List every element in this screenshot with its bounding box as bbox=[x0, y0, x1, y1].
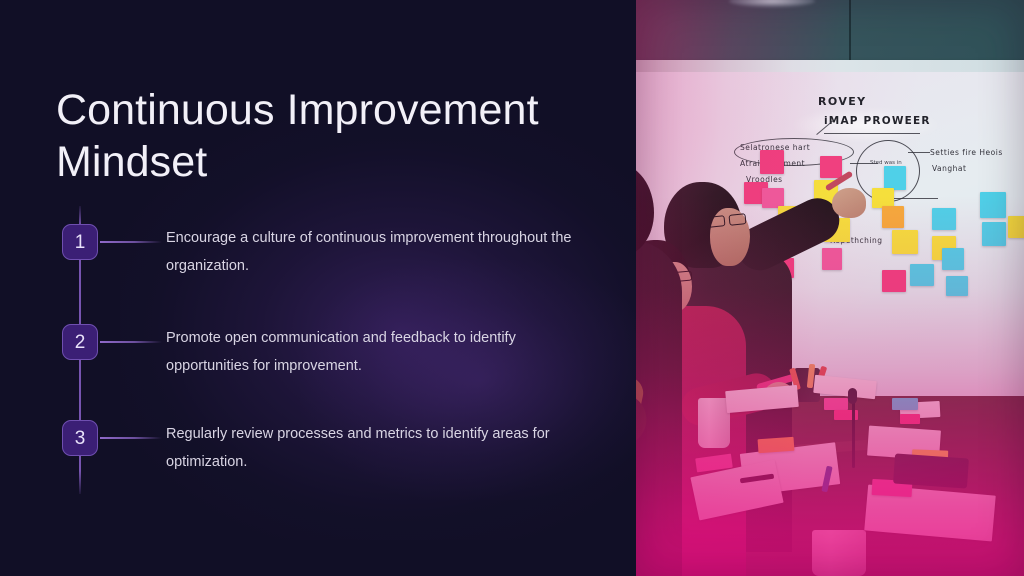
sticky-note bbox=[946, 276, 968, 296]
whiteboard-note: Vanghat bbox=[932, 164, 966, 173]
list-item-text: Encourage a culture of continuous improv… bbox=[166, 224, 596, 281]
sticky-note bbox=[910, 264, 934, 286]
whiteboard-subheading: iMAP PROWEER bbox=[824, 115, 931, 127]
microphone-stand bbox=[852, 396, 855, 468]
whiteboard-arrow-3 bbox=[908, 152, 930, 153]
sticky-note bbox=[932, 208, 956, 230]
sticky-note bbox=[882, 270, 906, 292]
sticky-note bbox=[872, 188, 894, 208]
sticky-note bbox=[762, 188, 784, 208]
sticky-note bbox=[820, 156, 842, 178]
sticky-note bbox=[942, 248, 964, 270]
person-hand bbox=[832, 188, 866, 218]
sticky-note bbox=[1008, 216, 1024, 238]
step-number-badge: 3 bbox=[62, 420, 98, 456]
left-content-panel: Continuous Improvement Mindset 1 Encoura… bbox=[0, 0, 636, 576]
sticky-note bbox=[758, 437, 795, 453]
sticky-note bbox=[892, 398, 918, 410]
sticky-note bbox=[900, 414, 920, 424]
numbered-timeline: 1 Encourage a culture of continuous impr… bbox=[56, 206, 616, 506]
paper-cup bbox=[698, 398, 730, 448]
sticky-note bbox=[882, 206, 904, 228]
list-item-text: Promote open communication and feedback … bbox=[166, 324, 596, 381]
photo-scene: ROVEY iMAP PROWEER Selatronese hart Atra… bbox=[636, 0, 1024, 576]
sticky-note bbox=[884, 166, 906, 190]
sticky-note bbox=[824, 398, 848, 410]
page-title: Continuous Improvement Mindset bbox=[56, 84, 596, 189]
slide-root: Continuous Improvement Mindset 1 Encoura… bbox=[0, 0, 1024, 576]
microphone bbox=[848, 388, 857, 404]
glasses-icon bbox=[707, 215, 725, 228]
sticky-note bbox=[892, 230, 918, 254]
timeline-connector bbox=[100, 437, 162, 439]
timeline-connector bbox=[100, 241, 162, 243]
whiteboard-heading: ROVEY bbox=[818, 95, 867, 108]
timeline-connector bbox=[100, 341, 162, 343]
step-number-badge: 2 bbox=[62, 324, 98, 360]
sticky-note bbox=[760, 150, 784, 174]
whiteboard-underline bbox=[824, 133, 920, 134]
team-brainstorm-photo: ROVEY iMAP PROWEER Selatronese hart Atra… bbox=[636, 0, 1024, 576]
list-item-text: Regularly review processes and metrics t… bbox=[166, 420, 596, 477]
whiteboard-arrow-4 bbox=[892, 198, 938, 199]
whiteboard-note: Setties fire Heois bbox=[930, 148, 1003, 157]
step-number-badge: 1 bbox=[62, 224, 98, 260]
laptop bbox=[893, 453, 969, 488]
sticky-note bbox=[822, 248, 842, 270]
paper-cup bbox=[812, 530, 866, 576]
glasses-icon bbox=[728, 213, 746, 226]
sticky-note bbox=[980, 192, 1006, 218]
sticky-note bbox=[982, 222, 1006, 246]
